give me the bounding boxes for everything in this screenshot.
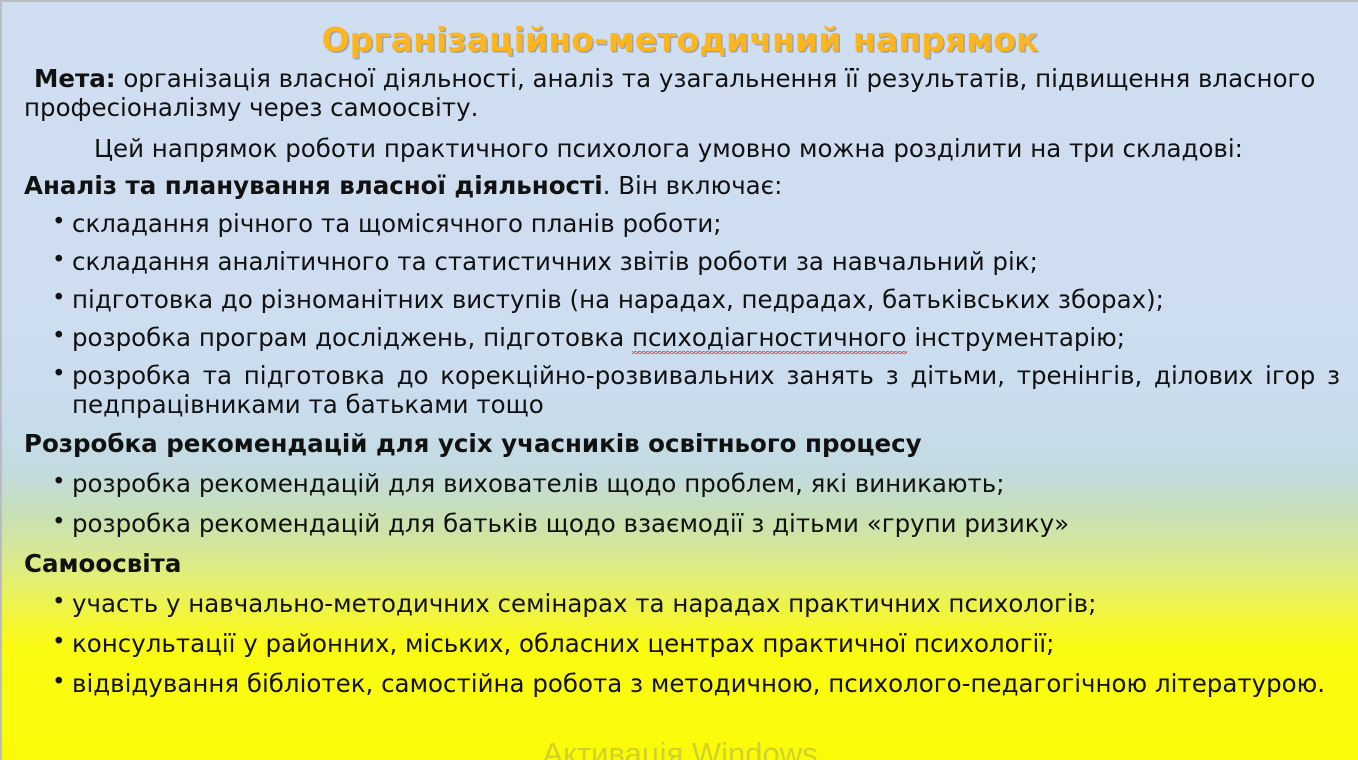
section3-heading: Самоосвіта xyxy=(2,549,1358,578)
list-item: підготовка до різноманітних виступів (на… xyxy=(2,285,1358,314)
bullet-text: складання річного та щомісячного планів … xyxy=(72,209,722,238)
bullet-text: розробка рекомендацій для вихователів що… xyxy=(72,469,1005,498)
section1-heading: Аналіз та планування власної діяльності.… xyxy=(2,171,1358,200)
goal-label: Мета: xyxy=(34,64,116,93)
windows-activation-watermark: Активація Windows xyxy=(2,736,1358,760)
list-item: відвідування бібліотек, самостійна робот… xyxy=(2,669,1358,698)
intro-paragraph: Цей напрямок роботи практичного психолог… xyxy=(2,134,1358,163)
section2-bullet-list: розробка рекомендацій для вихователів що… xyxy=(2,469,1358,538)
goal-text: організація власної діяльності, аналіз т… xyxy=(24,64,1315,122)
bullet-text: розробка рекомендацій для батьків щодо в… xyxy=(72,509,1069,538)
bullet-text-pre: розробка програм досліджень, підготовка xyxy=(72,323,632,352)
list-item: розробка рекомендацій для вихователів що… xyxy=(2,469,1358,498)
bullet-text: консультації у районних, міських, обласн… xyxy=(72,629,1054,658)
bullet-text: складання аналітичного та статистичних з… xyxy=(72,247,1038,276)
section3-bullet-list: участь у навчально-методичних семінарах … xyxy=(2,589,1358,698)
bullet-text-post: інструментарію; xyxy=(907,323,1126,352)
bullet-text: участь у навчально-методичних семінарах … xyxy=(72,589,1096,618)
section1-heading-rest: . Він включає: xyxy=(603,171,783,200)
list-item: розробка програм досліджень, підготовка … xyxy=(2,323,1358,352)
bullet-text: відвідування бібліотек, самостійна робот… xyxy=(72,669,1325,698)
slide-canvas: Організаційно-методичний напрямок Мета: … xyxy=(0,0,1358,760)
list-item: консультації у районних, міських, обласн… xyxy=(2,629,1358,658)
section1-bullet-list: складання річного та щомісячного планів … xyxy=(2,209,1358,419)
goal-paragraph: Мета: організація власної діяльності, ан… xyxy=(2,64,1358,122)
section1-heading-bold: Аналіз та планування власної діяльності xyxy=(24,171,603,200)
spellcheck-misspelled-word: психодіагностичного xyxy=(632,323,907,355)
list-item: розробка та підготовка до корекційно-роз… xyxy=(2,361,1358,419)
section2-heading: Розробка рекомендацій для усіх учасників… xyxy=(2,429,1358,458)
watermark-line1: Активація Windows xyxy=(542,736,817,760)
page-title: Організаційно-методичний напрямок xyxy=(2,20,1358,59)
bullet-text: розробка та підготовка до корекційно-роз… xyxy=(72,361,1340,419)
list-item: участь у навчально-методичних семінарах … xyxy=(2,589,1358,618)
bullet-text: підготовка до різноманітних виступів (на… xyxy=(72,285,1164,314)
list-item: складання аналітичного та статистичних з… xyxy=(2,247,1358,276)
list-item: складання річного та щомісячного планів … xyxy=(2,209,1358,238)
list-item: розробка рекомендацій для батьків щодо в… xyxy=(2,509,1358,538)
slide-body: Мета: організація власної діяльності, ан… xyxy=(2,64,1358,709)
